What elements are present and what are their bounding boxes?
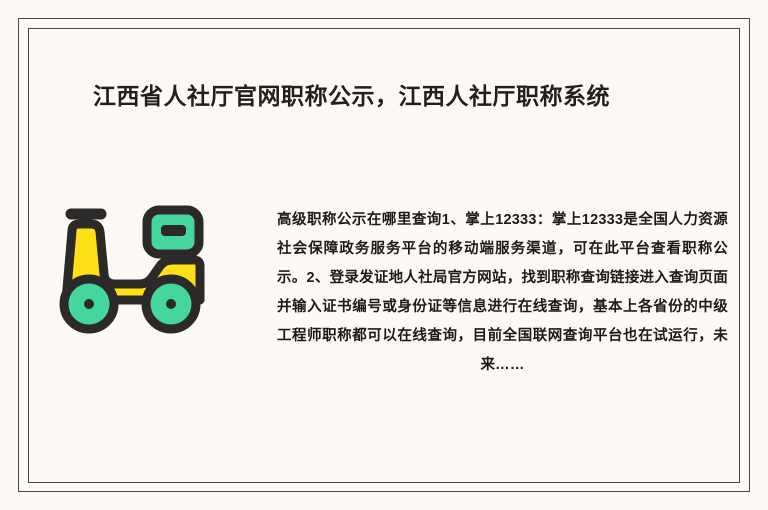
document-page: 江西省人社厅官网职称公示，江西人社厅职称系统 高级职称公示在哪里查询1 (0, 0, 768, 510)
article-body: 高级职称公示在哪里查询1、掌上12333：掌上12333是全国人力资源社会保障政… (277, 206, 728, 380)
page-title: 江西省人社厅官网职称公示，江西人社厅职称系统 (93, 80, 693, 112)
scooter-front-hub-part (84, 299, 94, 309)
scooter-rear-hub-part (166, 299, 176, 309)
scooter-box-slot-part (161, 225, 186, 236)
scooter-icon (44, 196, 208, 336)
